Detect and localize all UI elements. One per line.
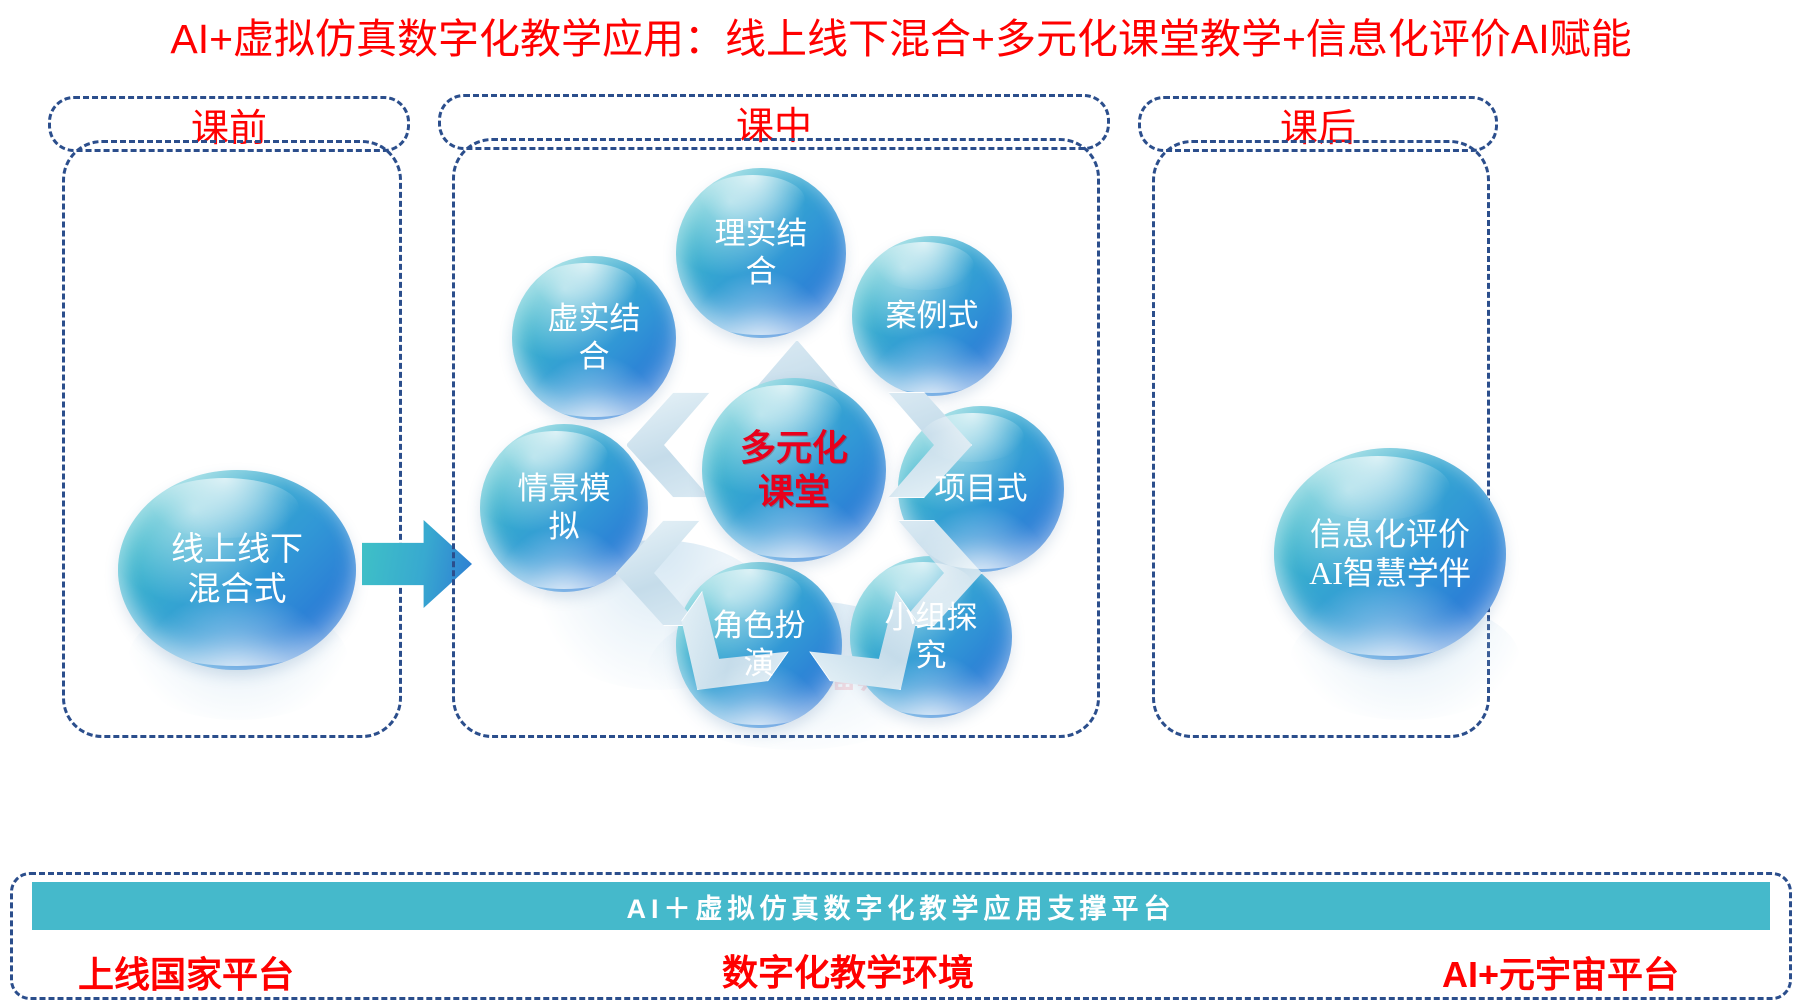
node-label-line1: 案例式 xyxy=(886,298,979,333)
node-label-line2: AI智慧学伴 xyxy=(1309,555,1471,591)
node-scenario-simulation-label: 情景模拟 xyxy=(504,470,625,546)
node-label-line2: 课堂 xyxy=(758,471,830,512)
node-label-line2: 合 xyxy=(746,254,777,289)
node-label-line1: 小组探 xyxy=(885,600,978,635)
node-label-line2: 拟 xyxy=(549,509,580,544)
node-online-offline-blended[interactable]: 线上线下混合式 xyxy=(118,470,356,670)
node-role-play-label: 角色扮演 xyxy=(699,607,820,683)
node-label-line1: 角色扮 xyxy=(713,608,806,643)
node-virtual-real-integration-label: 虚实结合 xyxy=(534,300,655,376)
platform-label-national: 上线国家平台 xyxy=(78,946,294,998)
node-project-based-label: 项目式 xyxy=(921,470,1042,508)
platform-label-metaverse: AI+元宇宙平台 xyxy=(1442,946,1679,998)
node-ai-evaluation-companion-label: 信息化评价AI智慧学伴 xyxy=(1295,515,1485,593)
node-label-line2: 演 xyxy=(744,646,775,681)
node-diversified-classroom-core-label: 多元化课堂 xyxy=(726,426,862,514)
node-group-inquiry-label: 小组探究 xyxy=(871,599,992,675)
node-label-line1: 理实结 xyxy=(715,216,808,251)
node-group-inquiry[interactable]: 小组探究 xyxy=(850,556,1012,718)
node-label-line1: 线上线下 xyxy=(171,532,303,568)
node-theory-practice-integration[interactable]: 理实结合 xyxy=(676,168,846,338)
node-theory-practice-integration-label: 理实结合 xyxy=(701,215,822,291)
node-label-line2: 究 xyxy=(916,638,947,673)
node-label-line1: 情景模 xyxy=(518,471,611,506)
node-case-based[interactable]: 案例式 xyxy=(852,236,1012,396)
node-label-line1: 信息化评价 xyxy=(1310,516,1470,552)
node-label-line2: 混合式 xyxy=(188,572,287,608)
node-diversified-classroom-core[interactable]: 多元化课堂 xyxy=(702,378,886,562)
platform-label-digital-env: 数字化教学环境 xyxy=(722,944,974,996)
node-label-line1: 多元化 xyxy=(740,427,848,468)
node-label-line1: 虚实结 xyxy=(548,301,641,336)
node-online-offline-blended-label: 线上线下混合式 xyxy=(157,530,317,611)
node-virtual-real-integration[interactable]: 虚实结合 xyxy=(512,256,676,420)
platform-support-bar-label: AI＋虚拟仿真数字化教学应用支撑平台 xyxy=(627,887,1176,926)
node-label-line2: 合 xyxy=(579,339,610,374)
platform-support-bar: AI＋虚拟仿真数字化教学应用支撑平台 xyxy=(32,882,1770,930)
node-label-line1: 项目式 xyxy=(935,471,1028,506)
node-role-play[interactable]: 角色扮演 xyxy=(676,562,842,728)
node-case-based-label: 案例式 xyxy=(872,297,993,335)
node-ai-evaluation-companion[interactable]: 信息化评价AI智慧学伴 xyxy=(1274,448,1506,660)
page-title: AI+虚拟仿真数字化教学应用：线上线下混合+多元化课堂教学+信息化评价AI赋能 xyxy=(0,14,1802,64)
